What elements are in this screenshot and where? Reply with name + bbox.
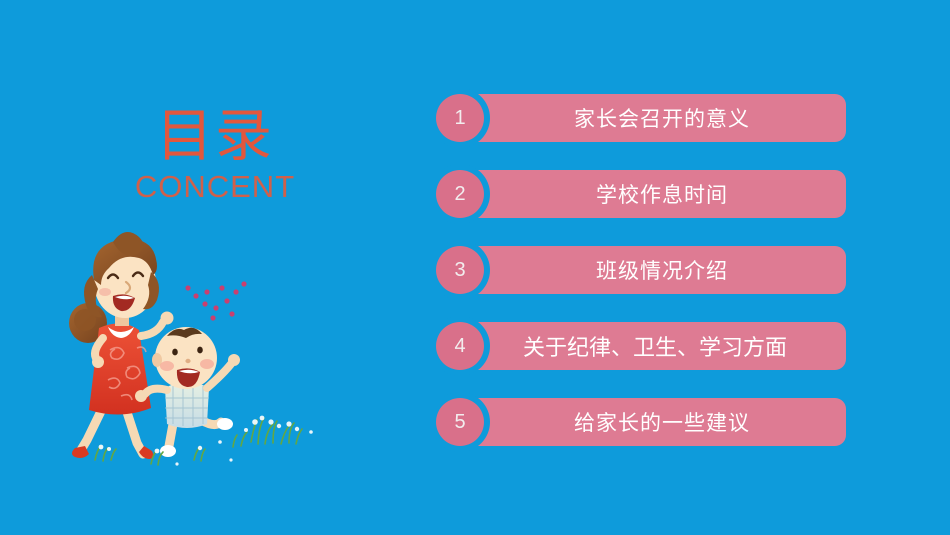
toc-item-1-number: 1 (454, 108, 465, 128)
toc-item-4-label: 关于纪律、卫生、学习方面 (507, 330, 797, 362)
toc-item-1-number-circle[interactable]: 1 (436, 94, 484, 142)
toc-item-3-bar[interactable]: 班级情况介绍 (458, 246, 846, 294)
toc-item-2-number-circle[interactable]: 2 (436, 170, 484, 218)
mother-and-child-illustration (55, 228, 355, 478)
toc-item-3-number: 3 (454, 260, 465, 280)
toc-item-2-bar[interactable]: 学校作息时间 (458, 170, 846, 218)
toc-item-2-label: 学校作息时间 (566, 179, 738, 209)
toc-item-5-number-circle[interactable]: 5 (436, 398, 484, 446)
presentation-slide: 目录 CONCENT (0, 0, 950, 535)
toc-item-4-bar[interactable]: 关于纪律、卫生、学习方面 (458, 322, 846, 370)
page-title-cn: 目录 (0, 108, 430, 165)
toc-item-5-number: 5 (454, 412, 465, 432)
table-of-contents-list: 家长会召开的意义 1 学校作息时间 2 班级情况介绍 3 (436, 94, 846, 446)
toc-item-5-label: 给家长的一些建议 (544, 407, 760, 437)
toc-item-2-number: 2 (454, 184, 465, 204)
toc-item-4-number: 4 (454, 336, 465, 356)
toc-item-2[interactable]: 学校作息时间 2 (436, 170, 846, 218)
page-title-en: CONCENT (0, 171, 430, 202)
toc-item-1-bar[interactable]: 家长会召开的意义 (458, 94, 846, 142)
toc-item-3[interactable]: 班级情况介绍 3 (436, 246, 846, 294)
toc-item-5[interactable]: 给家长的一些建议 5 (436, 398, 846, 446)
toc-item-1[interactable]: 家长会召开的意义 1 (436, 94, 846, 142)
toc-item-5-bar[interactable]: 给家长的一些建议 (458, 398, 846, 446)
slide-title-block: 目录 CONCENT (0, 108, 430, 202)
toc-item-1-label: 家长会召开的意义 (544, 103, 760, 133)
toc-item-3-label: 班级情况介绍 (566, 255, 738, 285)
toc-item-4[interactable]: 关于纪律、卫生、学习方面 4 (436, 322, 846, 370)
toc-item-4-number-circle[interactable]: 4 (436, 322, 484, 370)
toc-item-3-number-circle[interactable]: 3 (436, 246, 484, 294)
